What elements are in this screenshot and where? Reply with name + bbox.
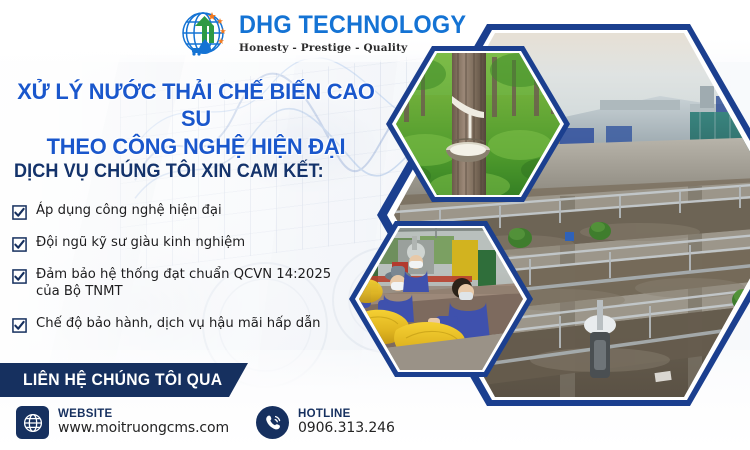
phone-ring-icon xyxy=(256,406,289,439)
checkbox-checked-icon xyxy=(12,205,27,220)
marketing-banner: DHG TECHNOLOGY Honesty - Prestige - Qual… xyxy=(0,0,750,450)
commitments-list: Áp dụng công nghệ hiện đại Đội ngũ kỹ sư… xyxy=(12,203,337,348)
list-item-label: Chế độ bảo hành, dịch vụ hậu mãi hấp dẫn xyxy=(36,316,321,333)
contact-ribbon-label: LIÊN HỆ CHÚNG TÔI QUA xyxy=(23,371,222,390)
contact-hotline[interactable]: HOTLINE 0906.313.246 xyxy=(256,406,395,439)
website-url[interactable]: www.moitruongcms.com xyxy=(58,421,229,437)
checkbox-checked-icon xyxy=(12,269,27,284)
list-item: Chế độ bảo hành, dịch vụ hậu mãi hấp dẫn xyxy=(12,316,337,333)
contact-ribbon: LIÊN HỆ CHÚNG TÔI QUA xyxy=(0,363,248,397)
hotline-number[interactable]: 0906.313.246 xyxy=(298,421,395,437)
commitments-heading: DỊCH VỤ CHÚNG TÔI XIN CAM KẾT: xyxy=(14,161,324,183)
checkbox-checked-icon xyxy=(12,318,27,333)
page-title: XỬ LÝ NƯỚC THẢI CHẾ BIẾN CAO SU THEO CÔN… xyxy=(6,78,386,160)
globe-icon xyxy=(16,406,49,439)
headline-line-2: THEO CÔNG NGHỆ HIỆN ĐẠI xyxy=(6,133,386,160)
list-item: Đảm bảo hệ thống đạt chuẩn QCVN 14:2025 … xyxy=(12,267,337,301)
checkbox-checked-icon xyxy=(12,237,27,252)
list-item-label: Đảm bảo hệ thống đạt chuẩn QCVN 14:2025 … xyxy=(36,267,337,301)
globe-buildings-waterdrop-logo-icon xyxy=(178,6,232,60)
list-item-label: Áp dụng công nghệ hiện đại xyxy=(36,203,222,220)
list-item: Áp dụng công nghệ hiện đại xyxy=(12,203,337,220)
list-item-label: Đội ngũ kỹ sư giàu kinh nghiệm xyxy=(36,235,245,252)
contact-website[interactable]: WEBSITE www.moitruongcms.com xyxy=(16,406,229,439)
list-item: Đội ngũ kỹ sư giàu kinh nghiệm xyxy=(12,235,337,252)
brand-logo[interactable]: DHG TECHNOLOGY Honesty - Prestige - Qual… xyxy=(178,6,481,60)
brand-name: DHG TECHNOLOGY xyxy=(239,13,466,38)
brand-tagline: Honesty - Prestige - Quality xyxy=(239,43,481,54)
headline-line-1: XỬ LÝ NƯỚC THẢI CHẾ BIẾN CAO SU xyxy=(17,79,374,131)
